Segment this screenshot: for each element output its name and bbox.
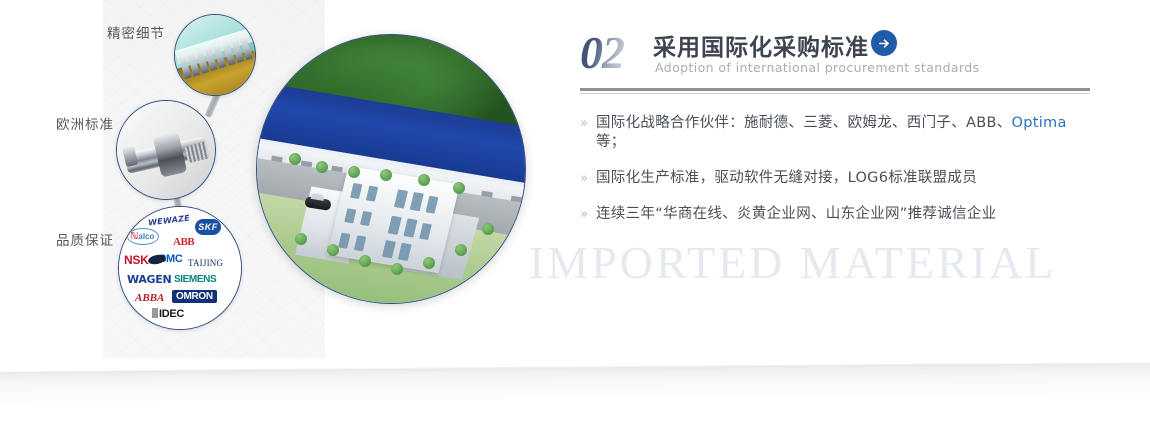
section-number: 02 bbox=[580, 30, 624, 76]
list-item: » 国际化生产标准，驱动软件无缝对接，LOG6标准联盟成员 bbox=[580, 169, 1090, 188]
list-item-prefix: 国际化战略合作伙伴：施耐德、三菱、欧姆龙、西门子、ABB、 bbox=[596, 115, 1012, 131]
list-item-highlight: Optima bbox=[1012, 115, 1067, 131]
feature-list: » 国际化战略合作伙伴：施耐德、三菱、欧姆龙、西门子、ABB、Optima等； … bbox=[580, 114, 1090, 241]
brand-logo-skf: SKF bbox=[195, 219, 221, 235]
label-precision-detail: 精密细节 bbox=[107, 22, 165, 42]
brand-logo-abba: ABBA bbox=[135, 292, 164, 304]
label-european-standard: 欧洲标准 bbox=[56, 113, 114, 133]
list-item-prefix: 连续三年“华商在线、炎黄企业网、山东企业网”推荐诚信企业 bbox=[596, 206, 996, 222]
list-item: » 国际化战略合作伙伴：施耐德、三菱、欧姆龙、西门子、ABB、Optima等； bbox=[580, 114, 1090, 152]
list-item-text: 国际化战略合作伙伴：施耐德、三菱、欧姆龙、西门子、ABB、Optima等； bbox=[596, 114, 1090, 152]
list-item-prefix: 国际化生产标准，驱动软件无缝对接，LOG6标准联盟成员 bbox=[596, 170, 977, 186]
ball-screw-shaft-photo bbox=[116, 100, 216, 200]
office-main-building bbox=[328, 166, 460, 273]
list-item: » 连续三年“华商在线、炎黄企业网、山东企业网”推荐诚信企业 bbox=[580, 205, 1090, 224]
brand-logo-palco: ℕalco bbox=[130, 231, 154, 242]
brand-logo-weware: WEWAZE bbox=[148, 213, 191, 227]
header-divider bbox=[580, 88, 1090, 94]
bullet-chevron-icon: » bbox=[580, 114, 596, 133]
brand-logo-smc: SMC bbox=[159, 253, 183, 265]
bullet-chevron-icon: » bbox=[580, 169, 596, 188]
brand-logo-siemens: SIEMENS bbox=[174, 274, 216, 285]
label-quality-guarantee: 品质保证 bbox=[56, 229, 114, 249]
page-subtitle: Adoption of international procurement st… bbox=[655, 60, 980, 75]
brand-logo-abb: ABB bbox=[173, 236, 194, 248]
precision-gear-photo bbox=[174, 14, 256, 96]
section-header: 02 采用国际化采购标准 Adoption of international p… bbox=[580, 24, 1090, 84]
list-item-text: 国际化生产标准，驱动软件无缝对接，LOG6标准联盟成员 bbox=[596, 169, 977, 188]
watermark-text: IMPORTED MATERIAL bbox=[529, 236, 1056, 289]
factory-building-photo bbox=[256, 34, 526, 304]
brand-logo-omron: OMRON bbox=[172, 290, 217, 303]
brand-logos-collage: WEWAZE SKF ABB ℕalco NSK SMC TAIJING WAG… bbox=[118, 206, 242, 330]
brand-logo-nsk: NSK bbox=[124, 253, 148, 267]
brand-logo-taijing: TAIJING bbox=[188, 258, 223, 268]
page-title: 采用国际化采购标准 bbox=[653, 28, 869, 62]
imported-material-banner: 精密细节 欧洲标准 品质保证 WEWAZE SKF ABB bbox=[0, 0, 1150, 430]
bullet-chevron-icon: » bbox=[580, 205, 596, 224]
brand-logo-wagen: WAGEN bbox=[127, 273, 171, 286]
arrow-right-icon[interactable] bbox=[871, 30, 897, 56]
right-content: 02 采用国际化采购标准 Adoption of international p… bbox=[580, 24, 1090, 84]
brand-logo-idec: IDEC bbox=[152, 308, 184, 320]
list-item-text: 连续三年“华商在线、炎黄企业网、山东企业网”推荐诚信企业 bbox=[596, 205, 996, 224]
brand-collage-inner: WEWAZE SKF ABB ℕalco NSK SMC TAIJING WAG… bbox=[119, 207, 241, 329]
list-item-suffix: 等； bbox=[596, 134, 626, 150]
